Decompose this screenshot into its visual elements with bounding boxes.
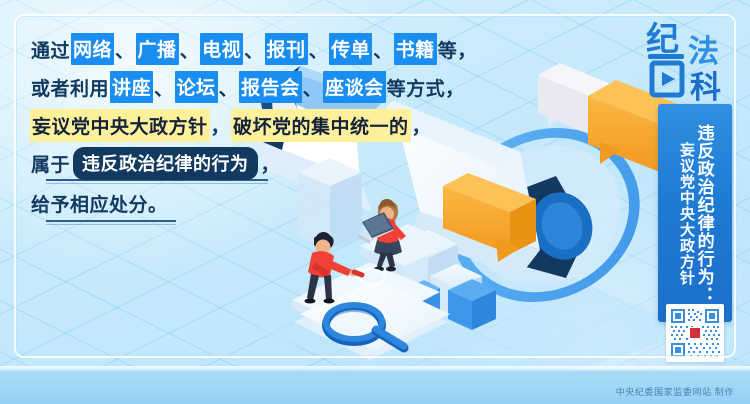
vertical-title-minor: 妄议党中央大政方针	[677, 112, 693, 316]
text-segment: 、	[153, 74, 175, 101]
highlight-term-wangluo: 网络	[71, 33, 114, 65]
text-segment: 、	[372, 36, 394, 63]
text-segment: 通过	[30, 36, 71, 63]
highlight-term-baogaohui: 报告会	[239, 71, 302, 103]
text-segment: 等，	[437, 36, 478, 63]
text-line-1: 通过网络、广播、电视、报刊、传单、书籍等，	[30, 30, 430, 68]
qr-code-glyph	[669, 307, 721, 359]
text-segment: 给予相应处分。	[30, 190, 169, 217]
text-segment: 、	[114, 36, 136, 63]
main-text-block: 通过网络、广播、电视、报刊、传单、书籍等， 或者利用讲座、论坛、报告会、座谈会等…	[30, 30, 430, 225]
vertical-title-major: 违反政治纪律的行为：	[695, 112, 713, 316]
pill-violation-term: 违反政治纪律的行为	[73, 147, 258, 180]
highlight-term-pohuai: 破坏党的集中统一的	[231, 109, 411, 142]
text-segment: ，	[260, 150, 282, 177]
text-segment: 、	[308, 36, 330, 63]
highlight-term-luntan: 论坛	[175, 71, 218, 103]
production-credit: 中央纪委国家监委网站 制作	[616, 385, 734, 398]
brand-logo-glyphs: 纪 法 科	[644, 16, 740, 102]
highlight-term-wangyi: 妄议党中央大政方针	[30, 109, 210, 142]
text-segment: 或者利用	[30, 74, 110, 101]
text-segment: ，	[210, 112, 232, 139]
text-segment: ，	[411, 112, 433, 139]
logo-char-ke: 科	[690, 70, 721, 102]
logo-char-ji: 纪	[646, 21, 679, 58]
vertical-title-band: 违反政治纪律的行为： 妄议党中央大政方针	[658, 104, 732, 322]
highlight-term-shuji: 书籍	[394, 33, 437, 65]
brand-logo[interactable]: 纪 法 科	[644, 16, 740, 102]
highlight-term-dianshi: 电视	[200, 33, 243, 65]
text-segment: 、	[218, 74, 240, 101]
qr-center-logo	[690, 328, 700, 338]
highlight-term-chuandan: 传单	[329, 33, 372, 65]
logo-char-fa: 法	[688, 34, 719, 69]
text-segment: 属于	[30, 150, 71, 177]
text-segment: 、	[179, 36, 201, 63]
text-line-3: 妄议党中央大政方针，破坏党的集中统一的，	[30, 106, 430, 144]
text-segment: 、	[243, 36, 265, 63]
text-line-4: 属于违反政治纪律的行为，	[30, 144, 430, 182]
highlight-term-baokan: 报刊	[265, 33, 308, 65]
highlight-term-guangbo: 广播	[136, 33, 179, 65]
play-icon	[662, 72, 675, 86]
highlight-term-zuotanhui: 座谈会	[323, 71, 386, 103]
rule-under-line-5	[46, 220, 176, 225]
poster-canvas: 通过网络、广播、电视、报刊、传单、书籍等， 或者利用讲座、论坛、报告会、座谈会等…	[0, 0, 750, 404]
text-line-5: 给予相应处分。	[30, 184, 430, 222]
text-line-2: 或者利用讲座、论坛、报告会、座谈会等方式，	[30, 68, 430, 106]
highlight-term-jiangzuo: 讲座	[110, 71, 153, 103]
logo-char-bai	[648, 54, 684, 95]
text-segment: 、	[302, 74, 324, 101]
qr-code-icon[interactable]	[666, 304, 724, 362]
text-segment: 等方式，	[386, 74, 466, 101]
